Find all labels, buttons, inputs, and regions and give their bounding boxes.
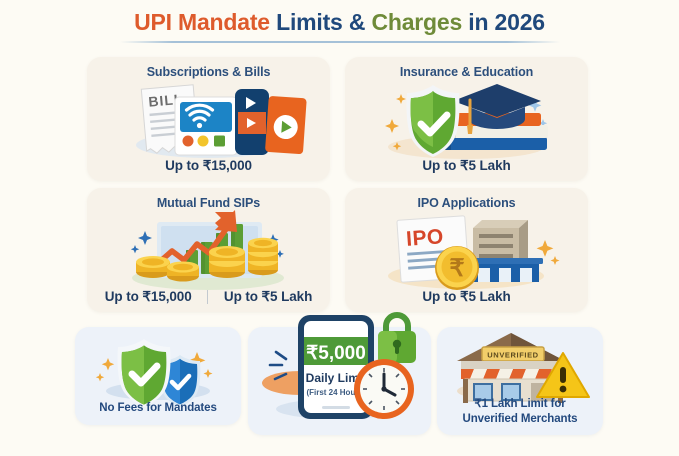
- card-no-fees-caption: No Fees for Mandates: [75, 401, 241, 415]
- card-insurance-and-education: Insurance & Education: [345, 57, 588, 181]
- svg-text:₹: ₹: [449, 255, 464, 282]
- title-segment-year: in 2026: [468, 9, 545, 35]
- card-subscriptions-value: Up to ₹15,000: [87, 158, 330, 174]
- card-ipo-value: Up to ₹5 Lakh: [345, 289, 588, 305]
- card-sip-value-right: Up to ₹5 Lakh: [224, 289, 312, 304]
- card-no-fees-for-mandates: No Fees for Mandates: [75, 327, 241, 425]
- phone-amount-text: ₹5,000: [306, 343, 366, 364]
- card-sip-value: Up to ₹15,000 Up to ₹5 Lakh: [87, 289, 330, 305]
- card-sip-value-left: Up to ₹15,000: [105, 289, 192, 304]
- card-daily-limit: ₹5,000 Daily Limit (First 24 Hours): [248, 327, 431, 435]
- card-ipo-applications: IPO Applications: [345, 188, 588, 312]
- card-mutual-fund-sips: Mutual Fund SIPs: [87, 188, 330, 312]
- title-underline-rule: [120, 41, 560, 43]
- card-insurance-value: Up to ₹5 Lakh: [345, 158, 588, 174]
- shop-sign-text: UNVERIFIED: [487, 351, 538, 360]
- card-subscriptions-and-bills: Subscriptions & Bills BILL: [87, 57, 330, 181]
- card-unverified-caption-line-1: ₹1 Lakh Limit for: [437, 397, 603, 411]
- title-segment-limits: Limits &: [276, 9, 365, 35]
- title-segment-upi-mandate: UPI Mandate: [134, 9, 270, 35]
- card-sip-value-divider: [207, 290, 208, 304]
- page-title: UPI Mandate Limits & Charges in 2026: [0, 8, 679, 36]
- card-unverified-merchants: UNVERIFIED: [437, 327, 603, 435]
- ipo-document-label: IPO: [405, 225, 444, 251]
- phone-lock-clock-illustration: ₹5,000 Daily Limit (First 24 Hours): [248, 327, 431, 435]
- title-segment-charges: Charges: [371, 9, 462, 35]
- card-unverified-caption-line-2: Unverified Merchants: [437, 412, 603, 426]
